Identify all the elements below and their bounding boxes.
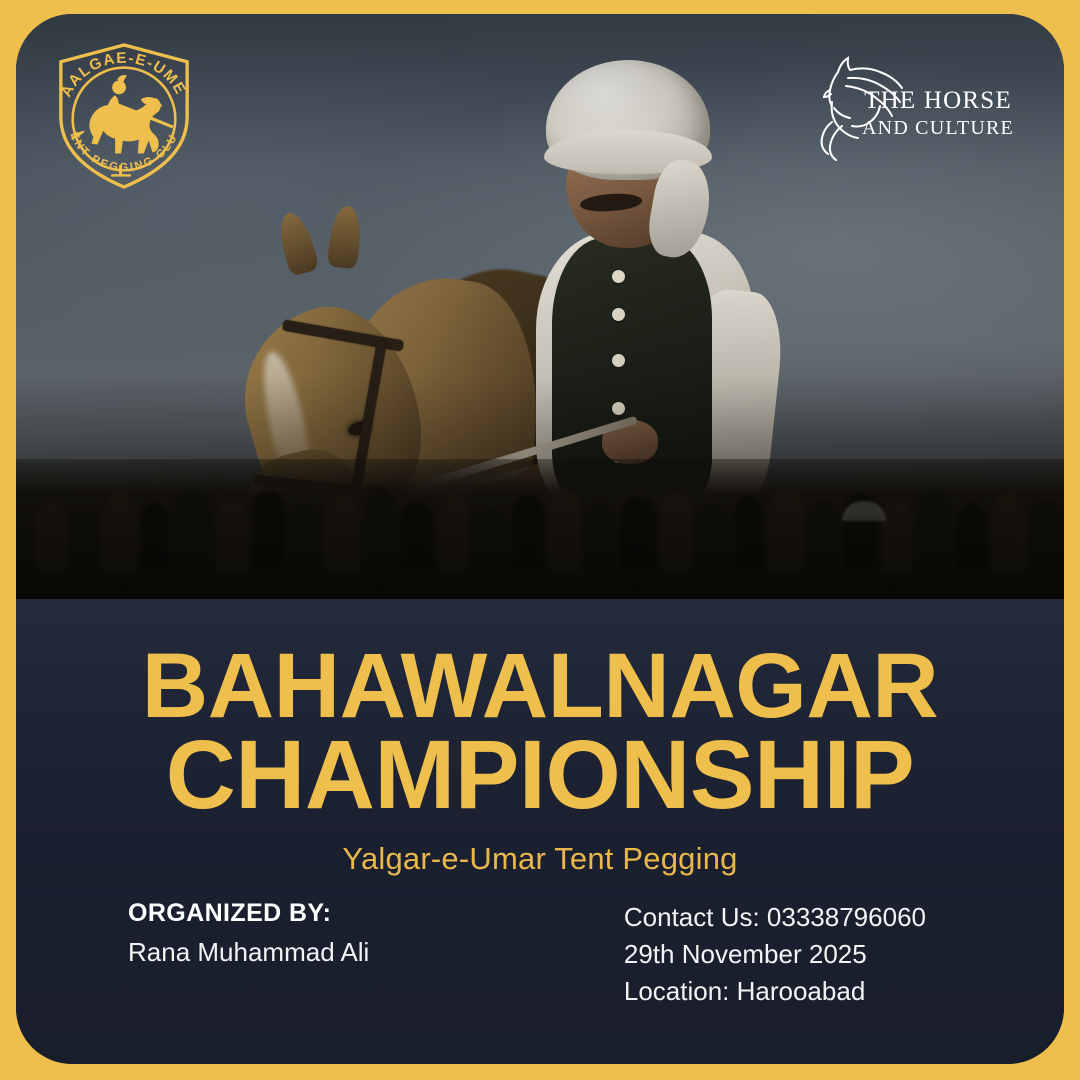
waistcoat-button xyxy=(612,402,625,415)
organizer-label: ORGANIZED BY: xyxy=(128,899,369,928)
contact-block: Contact Us: 03338796060 29th November 20… xyxy=(624,899,926,1010)
hero-photo: YAALGAE-E-UMER TENT PEGGING CLUB xyxy=(16,14,1064,599)
horse-ear-left xyxy=(274,209,320,277)
event-title-line-1: BAHAWALNAGAR xyxy=(56,643,1024,729)
waistcoat-button xyxy=(612,270,625,283)
horse-ear-right xyxy=(327,205,363,270)
organizer-block: ORGANIZED BY: Rana Muhammad Ali xyxy=(128,899,369,968)
contact-phone[interactable]: Contact Us: 03338796060 xyxy=(624,899,926,936)
poster-inner-frame: YAALGAE-E-UMER TENT PEGGING CLUB xyxy=(16,14,1064,1064)
event-poster: YAALGAE-E-UMER TENT PEGGING CLUB xyxy=(0,0,1080,1080)
partner-logo-line1: THE HORSE xyxy=(864,87,1012,114)
organizer-name: Rana Muhammad Ali xyxy=(128,937,369,968)
event-location: Location: Harooabad xyxy=(624,973,926,1010)
title-block: BAHAWALNAGAR CHAMPIONSHIP Yalgar-e-Umar … xyxy=(56,599,1024,877)
info-panel: BAHAWALNAGAR CHAMPIONSHIP Yalgar-e-Umar … xyxy=(16,599,1064,1064)
event-date: 29th November 2025 xyxy=(624,936,926,973)
waistcoat-button xyxy=(612,354,625,367)
event-title-line-2: CHAMPIONSHIP xyxy=(56,729,1024,820)
event-subtitle: Yalgar-e-Umar Tent Pegging xyxy=(56,841,1024,877)
partner-logo-line2: AND CULTURE xyxy=(862,117,1014,139)
waistcoat-button xyxy=(612,308,625,321)
the-horse-and-culture-logo: THE HORSE AND CULTURE xyxy=(808,42,1032,166)
yaalgae-e-umer-club-logo: YAALGAE-E-UMER TENT PEGGING CLUB xyxy=(50,40,198,192)
crowd-silhouettes xyxy=(16,455,1064,573)
footer: ORGANIZED BY: Rana Muhammad Ali Contact … xyxy=(16,899,1064,1010)
